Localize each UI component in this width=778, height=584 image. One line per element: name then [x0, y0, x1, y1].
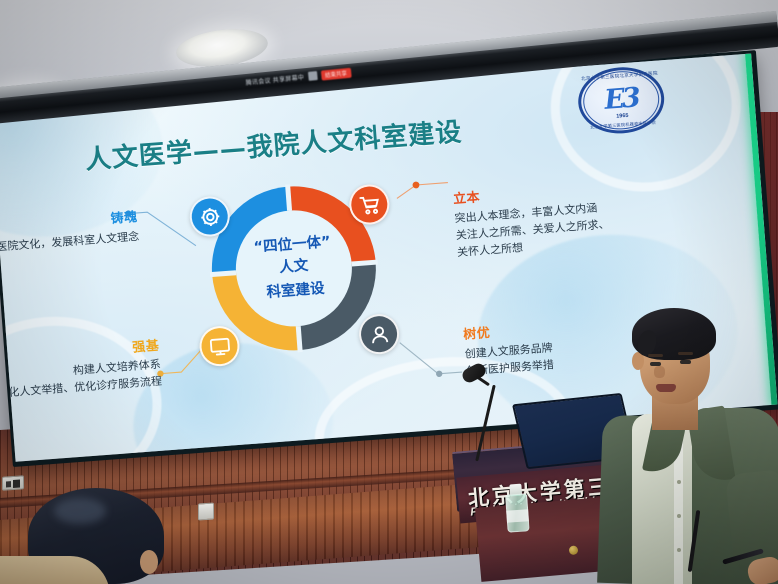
mic-arm [475, 385, 495, 462]
shirt-button [677, 514, 681, 518]
water-bottle [504, 483, 529, 532]
share-icon[interactable] [308, 71, 318, 81]
lecture-hall-photo: 人文医学——我院人文科室建设 北京大学第三医院北京大学第三医院 E3 1965 … [0, 0, 778, 584]
audience-ear [140, 550, 158, 574]
wall-outlet [198, 502, 214, 520]
bottle-label [506, 509, 529, 523]
presenter-hair [632, 308, 716, 360]
donut-center-label: “四位一体” 人文 科室建设 [225, 229, 362, 308]
wall-outlet [2, 475, 24, 490]
presenter-mouth [656, 384, 676, 392]
shirt-button [677, 480, 681, 484]
presenter-eye [680, 360, 691, 364]
audience-hair-highlight [54, 498, 106, 524]
microphone [468, 366, 538, 458]
presenter-brow [678, 352, 693, 355]
shirt-button [677, 548, 681, 552]
presenter-brow [648, 354, 663, 357]
four-in-one-donut-chart: “四位一体” 人文 科室建设 [191, 165, 397, 371]
presenter [596, 296, 778, 584]
end-share-button[interactable]: 结束共享 [321, 67, 352, 80]
meeting-status-label: 腾讯会议 共享屏幕中 [245, 72, 304, 87]
presenter-nose [654, 366, 665, 378]
